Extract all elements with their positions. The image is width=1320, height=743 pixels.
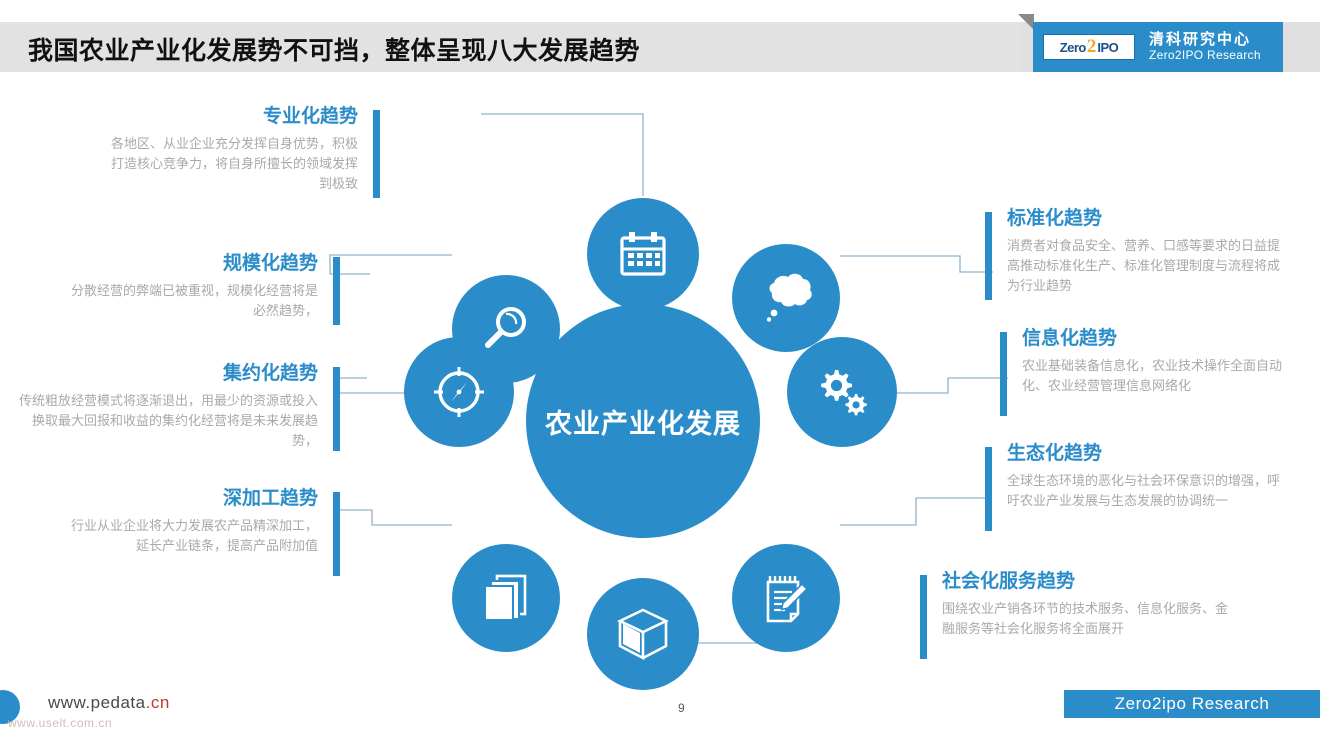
logo-mark-two: 2 xyxy=(1087,36,1097,58)
trend-desc: 行业从业企业将大力发展农产品精深加工，延长产业链条，提高产品附加值 xyxy=(68,516,340,556)
zero2ipo-logo-mark: Zero 2 IPO xyxy=(1043,34,1135,60)
page-number: 9 xyxy=(678,701,685,715)
trend-block-left-3: 深加工趋势 行业从业企业将大力发展农产品精深加工，延长产业链条，提高产品附加值 xyxy=(68,488,340,556)
logo-mark-left: Zero xyxy=(1060,40,1086,55)
trend-desc: 全球生态环境的恶化与社会环保意识的增强，呼吁农业产业发展与生态发展的协调统一 xyxy=(985,471,1285,511)
trend-desc: 分散经营的弊端已被重视，规模化经营将是必然趋势， xyxy=(68,281,340,321)
footer-url-main: www.pedata xyxy=(48,693,146,712)
trend-block-right-2: 生态化趋势 全球生态环境的恶化与社会环保意识的增强，呼吁农业产业发展与生态发展的… xyxy=(985,443,1285,511)
logo-fold-corner xyxy=(1018,14,1034,30)
accent-bar xyxy=(985,447,992,531)
brand-name-cn: 清科研究中心 xyxy=(1149,31,1261,48)
accent-bar xyxy=(920,575,927,659)
trend-block-left-1: 规模化趋势 分散经营的弊端已被重视，规模化经营将是必然趋势， xyxy=(68,253,340,321)
node-thought-bubble[interactable] xyxy=(732,244,840,352)
trend-title: 规模化趋势 xyxy=(68,253,340,276)
trend-block-right-3: 社会化服务趋势 围绕农业产销各环节的技术服务、信息化服务、金融服务等社会化服务将… xyxy=(920,571,1230,639)
trend-title: 深加工趋势 xyxy=(68,488,340,511)
trend-block-right-1: 信息化趋势 农业基础装备信息化，农业技术操作全面自动化、农业经营管理信息网络化 xyxy=(1000,328,1290,396)
trend-title: 集约化趋势 xyxy=(12,363,340,386)
calendar-icon xyxy=(617,228,669,280)
accent-bar xyxy=(1000,332,1007,416)
node-gears[interactable] xyxy=(787,337,897,447)
trend-title: 生态化趋势 xyxy=(985,443,1285,466)
node-magnifier[interactable] xyxy=(452,275,560,383)
thought-bubble-icon xyxy=(758,271,814,325)
footer-brand-banner: Zero2ipo Research xyxy=(1064,690,1320,718)
accent-bar xyxy=(333,492,340,576)
brand-logo: Zero 2 IPO 清科研究中心 Zero2IPO Research xyxy=(1033,22,1283,72)
footer-url: www.pedata.cn xyxy=(48,693,170,713)
trend-desc: 各地区、从业企业充分发挥自身优势，积极打造核心竞争力，将自身所擅长的领域发挥到极… xyxy=(108,134,380,194)
logo-mark-right: IPO xyxy=(1097,40,1118,55)
footer-sub-url: www.uselt.com.cn xyxy=(8,716,112,730)
trend-title: 标准化趋势 xyxy=(985,208,1285,231)
trend-desc: 传统粗放经营模式将逐渐退出，用最少的资源或投入换取最大回报和收益的集约化经营将是… xyxy=(12,391,340,451)
trend-title: 社会化服务趋势 xyxy=(920,571,1230,594)
trend-block-left-0: 专业化趋势 各地区、从业企业充分发挥自身优势，积极打造核心竞争力，将自身所擅长的… xyxy=(108,106,380,194)
trend-desc: 消费者对食品安全、营养、口感等要求的日益提高推动标准化生产、标准化管理制度与流程… xyxy=(985,236,1285,296)
diagram-canvas: 农业产业化发展 xyxy=(0,78,1320,678)
trend-title: 专业化趋势 xyxy=(108,106,380,129)
brand-name-en: Zero2IPO Research xyxy=(1149,49,1261,63)
accent-bar xyxy=(333,367,340,451)
trend-title: 信息化趋势 xyxy=(1000,328,1290,351)
trend-desc: 围绕农业产销各环节的技术服务、信息化服务、金融服务等社会化服务将全面展开 xyxy=(920,599,1230,639)
page-title: 我国农业产业化发展势不可挡，整体呈现八大发展趋势 xyxy=(28,31,640,67)
notepad-pencil-icon xyxy=(758,570,814,626)
node-notepad[interactable] xyxy=(732,544,840,652)
trend-block-right-0: 标准化趋势 消费者对食品安全、营养、口感等要求的日益提高推动标准化生产、标准化管… xyxy=(985,208,1285,296)
node-documents[interactable] xyxy=(452,544,560,652)
accent-bar xyxy=(373,110,380,198)
accent-bar xyxy=(333,257,340,325)
brand-logo-text: 清科研究中心 Zero2IPO Research xyxy=(1149,31,1261,62)
node-calendar[interactable] xyxy=(587,198,699,310)
cube-icon xyxy=(614,606,672,662)
center-hub: 农业产业化发展 xyxy=(526,304,760,538)
center-hub-label: 农业产业化发展 xyxy=(545,402,741,441)
footer-url-suffix: .cn xyxy=(146,693,170,712)
gears-icon xyxy=(813,366,871,418)
accent-bar xyxy=(985,212,992,300)
trend-block-left-2: 集约化趋势 传统粗放经营模式将逐渐退出，用最少的资源或投入换取最大回报和收益的集… xyxy=(12,363,340,451)
node-cube[interactable] xyxy=(587,578,699,690)
trend-desc: 农业基础装备信息化，农业技术操作全面自动化、农业经营管理信息网络化 xyxy=(1000,356,1290,396)
magnifier-icon xyxy=(479,302,533,356)
documents-icon xyxy=(479,571,533,625)
